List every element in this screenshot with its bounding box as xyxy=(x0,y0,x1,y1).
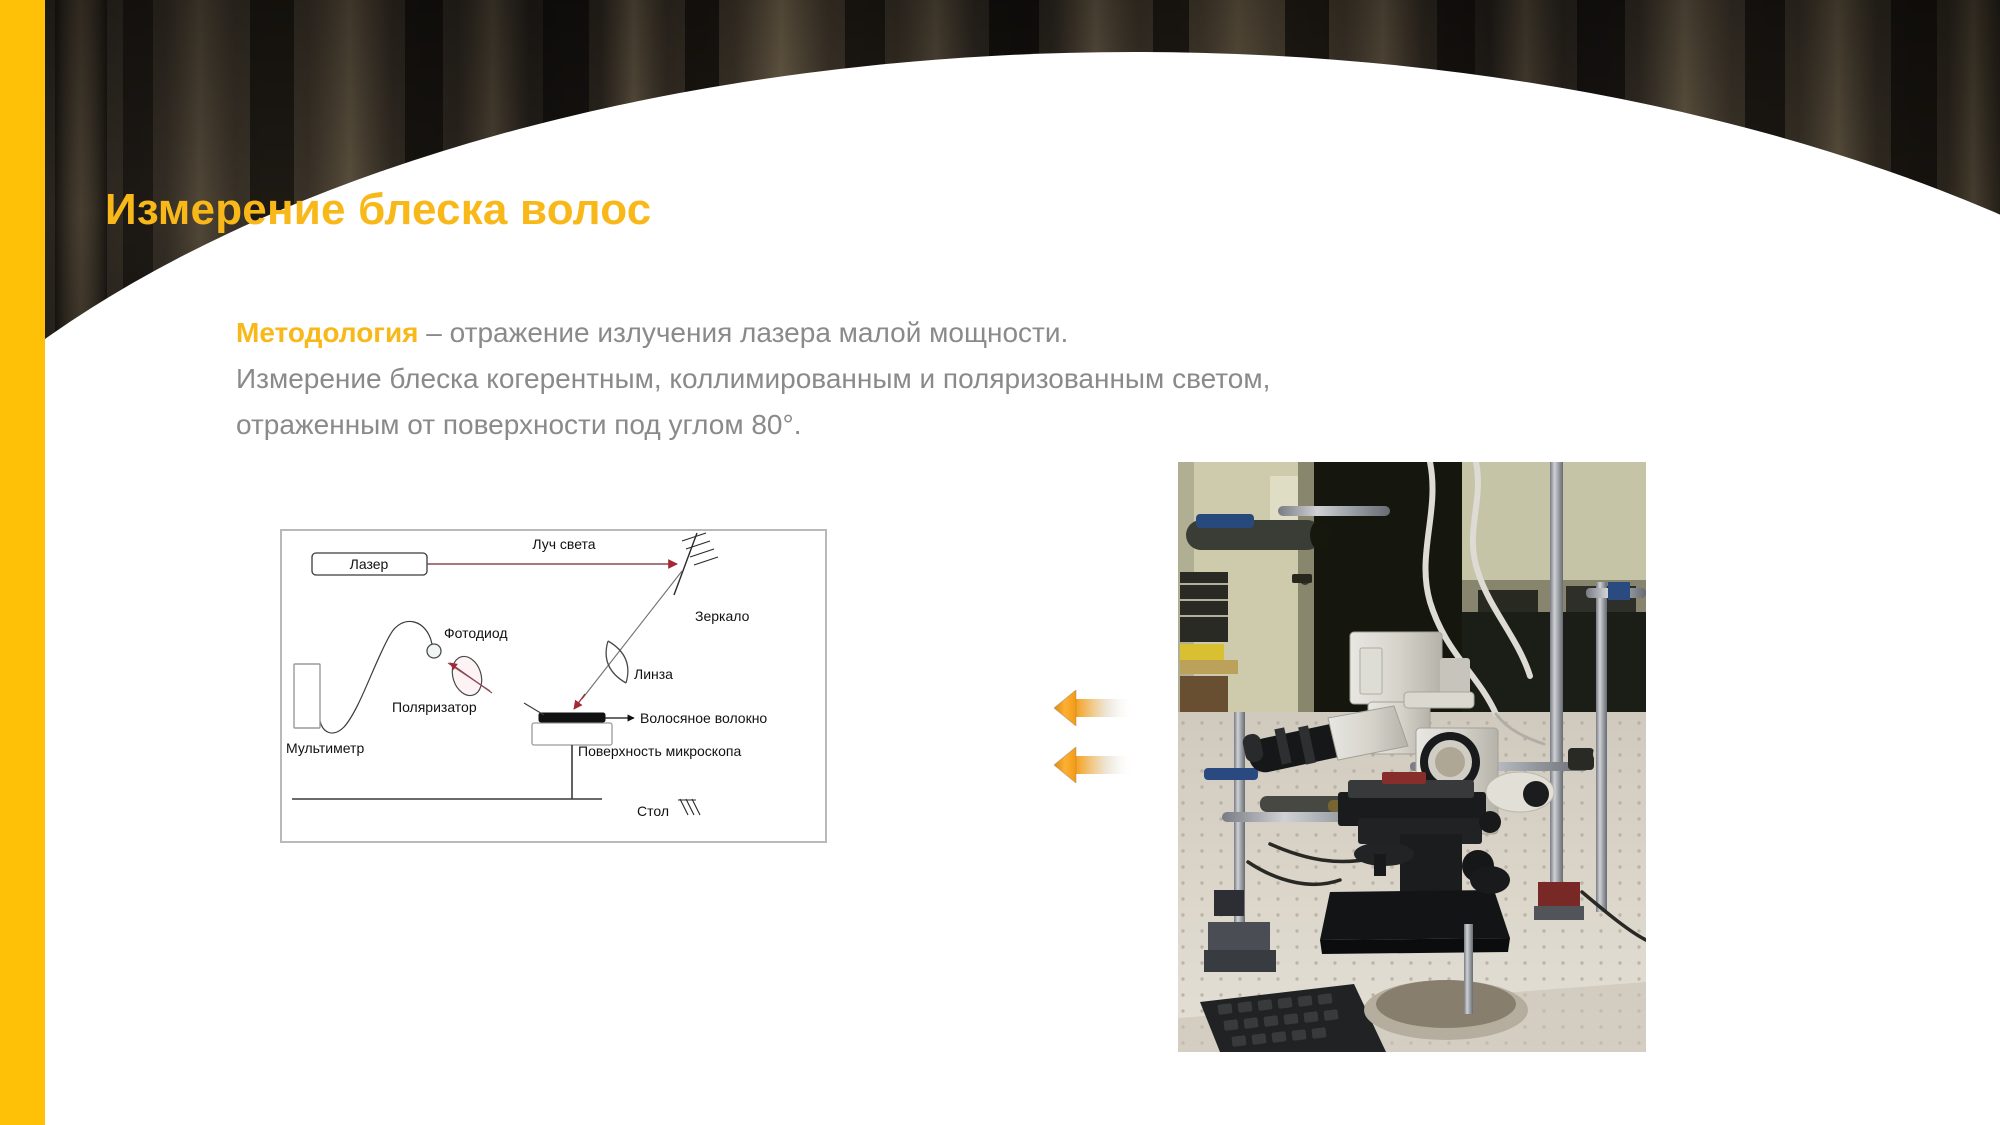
photodiode-symbol xyxy=(427,644,441,658)
table-hatching-symbol xyxy=(678,799,700,815)
slide-root: Измерение блеска волос Методология – отр… xyxy=(0,0,2000,1125)
microscope-surface-block xyxy=(532,723,612,745)
body-line-2: Измерение блеска когерентным, коллимиров… xyxy=(236,356,1536,402)
label-microscope-surface: Поверхность микроскопа xyxy=(578,743,741,759)
transition-arrow-top xyxy=(1054,690,1134,726)
label-lens: Линза xyxy=(634,666,673,682)
label-photodiode: Фотодиод xyxy=(444,625,508,641)
methodology-label: Методология xyxy=(236,317,419,348)
transition-arrow-bottom xyxy=(1054,747,1134,783)
page-title: Измерение блеска волос xyxy=(105,185,651,235)
label-light-beam: Луч света xyxy=(532,536,595,552)
label-multimeter: Мультиметр xyxy=(286,740,364,756)
label-polarizer: Поляризатор xyxy=(392,699,477,715)
mirror-symbol xyxy=(674,533,718,595)
multimeter-box xyxy=(294,664,320,728)
body-paragraph: Методология – отражение излучения лазера… xyxy=(236,310,1536,448)
body-line-1: Методология – отражение излучения лазера… xyxy=(236,310,1536,356)
label-table: Стол xyxy=(637,803,669,819)
methodology-rest: – отражение излучения лазера малой мощно… xyxy=(419,317,1069,348)
left-accent-bar xyxy=(0,0,45,1125)
label-hair-fiber: Волосяное волокно xyxy=(640,710,767,726)
hair-sample-slab xyxy=(539,713,605,722)
reflected-beam-arrow xyxy=(574,694,585,709)
sample-pointer-tick xyxy=(524,703,544,715)
lens-symbol xyxy=(606,641,628,683)
optical-setup-diagram: Лазер Луч света Зеркало xyxy=(280,529,827,843)
photodiode-cable xyxy=(320,621,432,733)
label-mirror: Зеркало xyxy=(695,608,750,624)
lab-setup-photo xyxy=(1178,462,1646,1052)
label-laser: Лазер xyxy=(350,556,389,572)
body-line-3: отраженным от поверхности под углом 80°. xyxy=(236,402,1536,448)
